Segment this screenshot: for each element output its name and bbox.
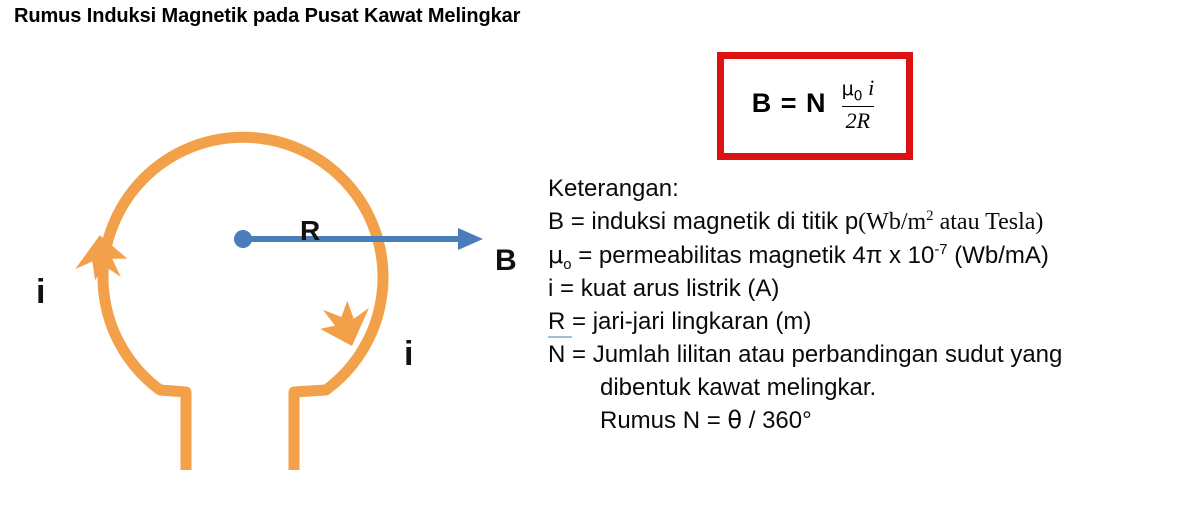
keterangan-line-mu: μo = permeabilitas magnetik 4π x 10-7 (W… <box>548 239 1200 272</box>
current-label-right: i <box>404 335 413 374</box>
equals-R: = <box>572 308 586 335</box>
formula-denominator: 2R <box>842 106 874 132</box>
field-label: B <box>495 244 517 278</box>
symbol-R: R <box>548 308 572 338</box>
page-title: Rumus Induksi Magnetik pada Pusat Kawat … <box>14 5 520 28</box>
magnetic-field-vector-arrow <box>234 228 483 250</box>
equals-mu: = <box>578 242 592 269</box>
equals-B: = <box>571 208 585 235</box>
keterangan-block: Keterangan: B = induksi magnetik di titi… <box>548 172 1200 437</box>
radius-label: R <box>300 215 320 247</box>
symbol-N: N <box>548 341 565 368</box>
formula-box: B = N μ0 i 2R <box>717 52 913 160</box>
current-label-left: i <box>36 273 45 312</box>
mu-symbol: μ <box>842 78 854 100</box>
desc-mu: permeabilitas magnetik 4π x 10 <box>599 242 934 269</box>
unit-B-exponent: 2 <box>926 208 933 224</box>
keterangan-line-i: i = kuat arus listrik (A) <box>548 272 1200 305</box>
formula-lhs: B = N <box>752 88 827 119</box>
desc-B: induksi magnetik di titik p <box>591 208 858 235</box>
keterangan-line-B: B = induksi magnetik di titik p(Wb/m2 at… <box>548 205 1200 239</box>
unit-mu: (Wb/mA) <box>948 242 1049 269</box>
desc-N: Jumlah lilitan atau perbandingan sudut y… <box>593 341 1063 368</box>
rumus-n-suffix: / 360° <box>742 407 812 434</box>
keterangan-continuation-2: Rumus N = θ / 360° <box>548 404 1200 437</box>
keterangan-line-N: N = Jumlah lilitan atau perbandingan sud… <box>548 338 1200 371</box>
theta-symbol: θ <box>727 406 742 434</box>
formula-content: B = N μ0 i 2R <box>752 76 878 132</box>
loop-diagram-svg <box>0 30 540 500</box>
keterangan-continuation-1: dibentuk kawat melingkar. <box>548 371 1200 404</box>
current-symbol: i <box>868 75 874 100</box>
unit-B-suffix: atau Tesla) <box>934 209 1044 235</box>
equals-i: = <box>560 275 574 302</box>
wire-arc <box>103 137 383 390</box>
unit-B-prefix: (Wb/m <box>858 209 926 235</box>
circular-current-loop-diagram: i i R B <box>0 30 540 500</box>
formula-fraction: μ0 i 2R <box>838 76 879 132</box>
wire-loop-orange <box>103 137 383 470</box>
desc-i: kuat arus listrik (A) <box>581 275 780 302</box>
wire-lead-left <box>160 390 186 470</box>
symbol-i: i <box>548 275 553 302</box>
equals-N: = <box>572 341 586 368</box>
symbol-B: B <box>548 208 564 235</box>
formula-numerator: μ0 i <box>838 76 879 106</box>
symbol-mu-subscript: o <box>563 257 571 273</box>
exponent-mu: -7 <box>934 242 947 258</box>
symbol-mu: μ <box>548 241 563 269</box>
vector-arrowhead-icon <box>458 228 483 250</box>
mu-subscript: 0 <box>854 88 863 104</box>
keterangan-line-R: R = jari-jari lingkaran (m) <box>548 305 1200 338</box>
desc-R: jari-jari lingkaran (m) <box>593 308 812 335</box>
wire-lead-right <box>294 390 326 470</box>
keterangan-heading: Keterangan: <box>548 172 1200 205</box>
rumus-n-prefix: Rumus N = <box>600 407 727 434</box>
